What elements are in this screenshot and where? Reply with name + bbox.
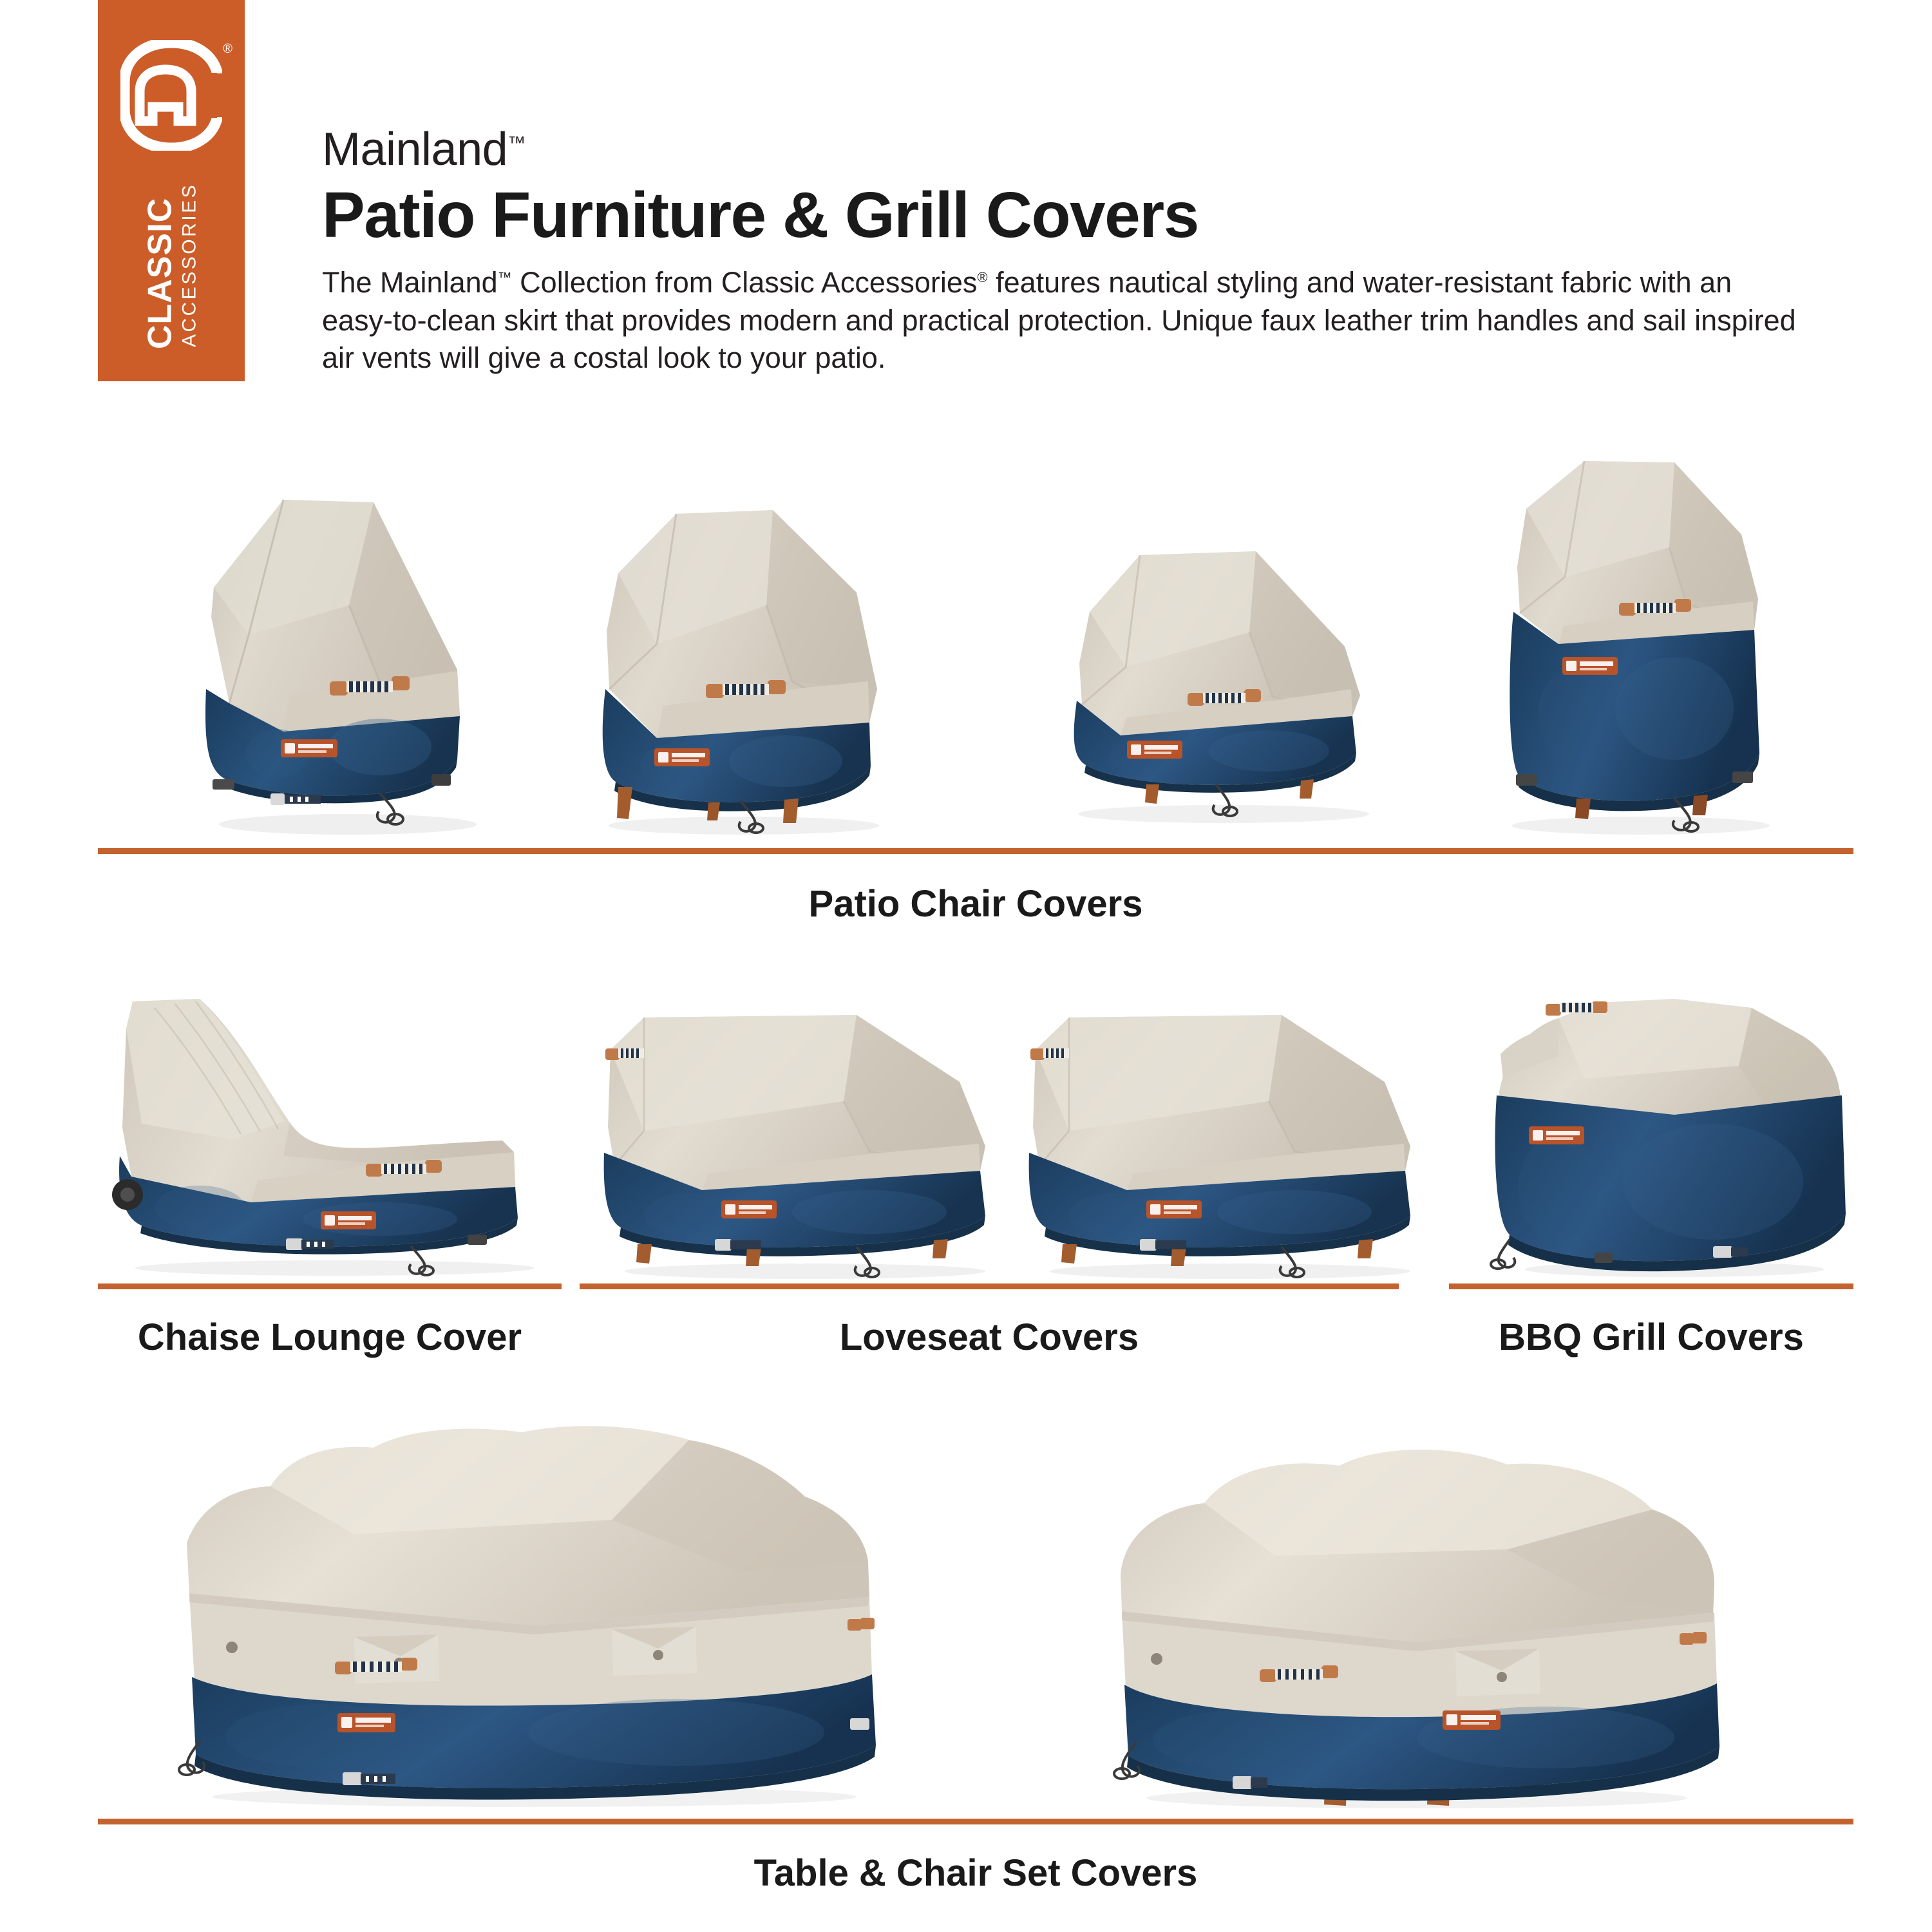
divider-chaise-lounge-cover [98,1283,562,1289]
category-label-table-chair-set-covers: Table & Chair Set Covers [98,1855,1853,1892]
product-image-high-back-chair-cover [187,477,489,837]
product-image-rectangular-table-set-cover [161,1410,914,1810]
trademark-mark: ™ [507,133,526,153]
page-title: Patio Furniture & Grill Covers [322,180,1816,250]
product-badge [1529,1126,1584,1144]
product-badge [1146,1200,1202,1218]
brand-wordmark: CLASSIC ACCESSORIES [98,151,245,381]
divider-bbq-grill-covers [1449,1283,1853,1289]
divider-patio-chair-covers [98,848,1853,854]
product-badge [1443,1710,1501,1730]
product-badge [321,1211,376,1229]
description-tm: ™ [498,269,512,285]
category-label-patio-chair-covers: Patio Chair Covers [98,885,1853,923]
classic-accessories-monogram-icon: ® [120,40,222,151]
description-paragraph: The Mainland™ Collection from Classic Ac… [322,264,1803,377]
product-image-loveseat-cover-right [1024,1011,1436,1282]
product-badge [1127,741,1182,759]
product-badge [721,1200,777,1218]
category-label-chaise-lounge-cover: Chaise Lounge Cover [98,1319,562,1356]
brand-name-primary: CLASSIC [144,198,177,349]
divider-table-chair-set-covers [98,1819,1853,1824]
product-badge [337,1713,395,1732]
header-block: Mainland™ Patio Furniture & Grill Covers… [322,126,1816,377]
brand-banner: ® CLASSIC ACCESSORIES [98,0,245,381]
collection-name: Mainland™ [322,126,1816,173]
product-image-bbq-grill-cover [1481,995,1855,1278]
product-badge [1562,657,1618,675]
product-image-chaise-lounge-cover [103,995,567,1278]
description-reg: ® [977,269,987,285]
divider-loveseat-covers [580,1283,1399,1289]
product-image-round-table-set-cover [1095,1430,1739,1810]
collection-name-text: Mainland [322,124,507,175]
product-image-loveseat-cover-left [599,1011,1011,1282]
description-part-1: The Mainland [322,266,498,299]
category-label-bbq-grill-covers: BBQ Grill Covers [1449,1319,1853,1356]
category-label-loveseat-covers: Loveseat Covers [580,1319,1399,1356]
product-image-stackable-chair-cover [1481,451,1790,837]
description-part-2: Collection from Classic Accessories [512,266,978,299]
product-image-lounge-chair-cover [1043,535,1391,824]
product-badge [654,748,710,766]
cover-handle-right [1680,1632,1707,1645]
cover-handle-right [848,1618,875,1631]
registered-mark: ® [223,43,232,55]
brand-name-secondary: ACCESSORIES [180,183,200,347]
product-image-adirondack-chair-cover [580,496,902,837]
product-badge [281,739,337,757]
